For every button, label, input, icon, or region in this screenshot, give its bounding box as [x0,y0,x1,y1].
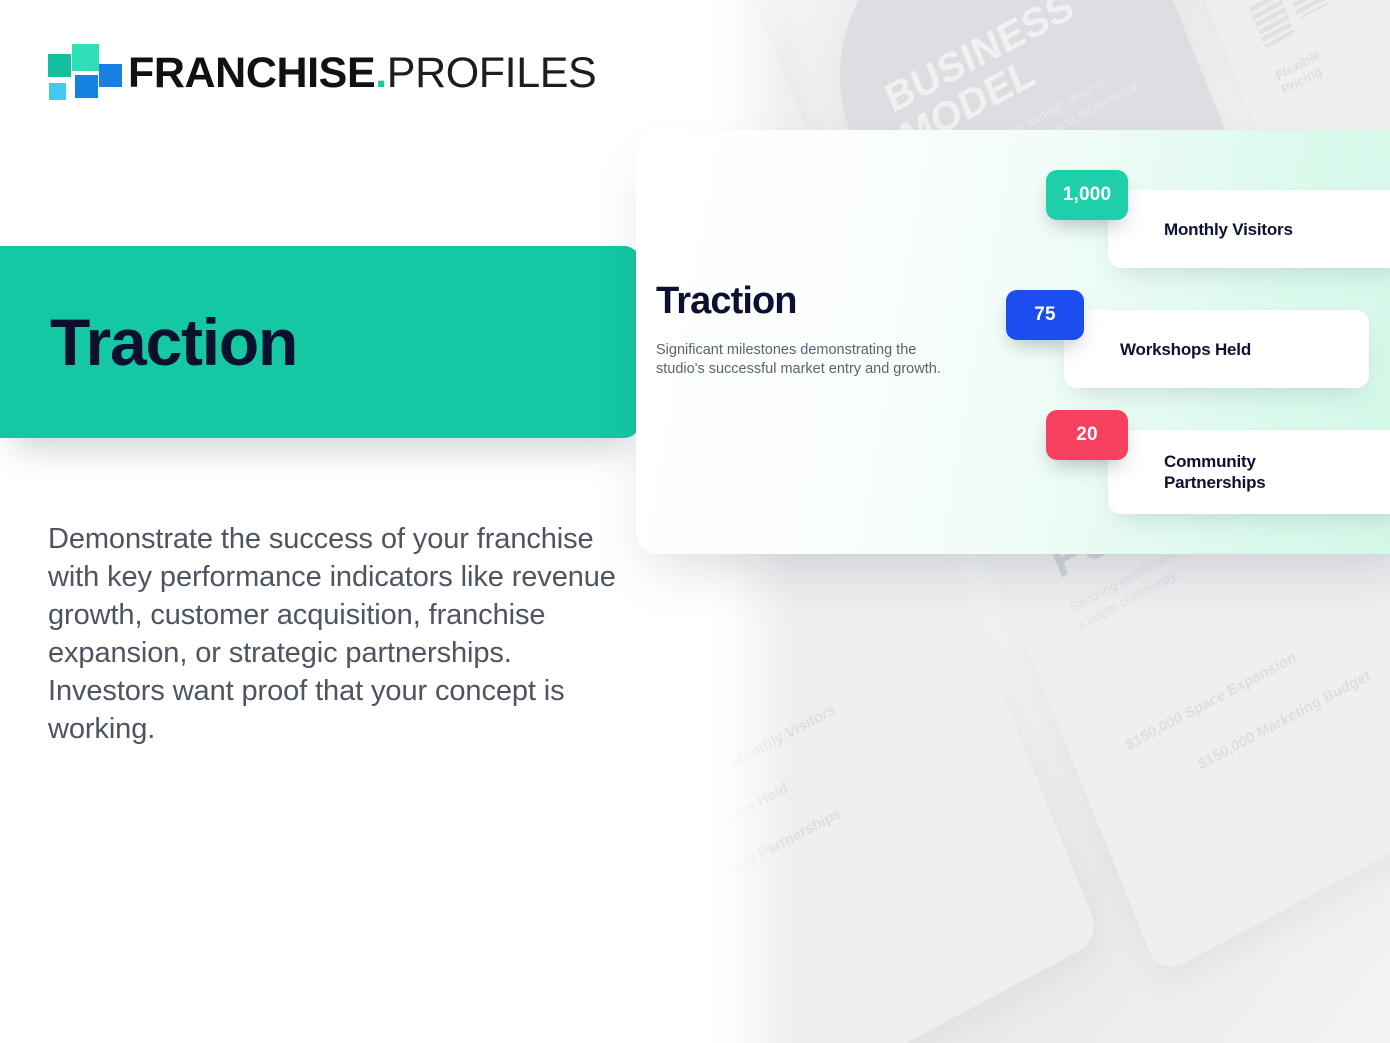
metric-row[interactable]: 1,000 Monthly Visitors [1046,170,1390,268]
logo-word-dot: . [375,49,387,98]
logo-wordmark: FRANCHISE . PROFILES [128,49,596,98]
coins-icon [1249,0,1296,49]
logo-square-sky [49,83,66,100]
logo-square-blue-2 [99,64,122,87]
metric-label: Workshops Held [1120,339,1251,360]
metric-row[interactable]: 20 Community Partnerships [1046,410,1390,514]
metric-card[interactable]: Community Partnerships [1108,430,1390,514]
logo-square-mint [72,44,99,71]
preview-description: Significant milestones demonstrating the… [656,341,956,379]
page-title: Traction [50,304,297,380]
brand-logo[interactable]: FRANCHISE . PROFILES [46,40,596,106]
logo-word-franchise: FRANCHISE [128,49,375,98]
metric-row[interactable]: 75 Workshops Held [1006,290,1369,388]
preview-title: Traction [656,280,986,323]
metric-card[interactable]: Monthly Visitors [1108,190,1390,268]
watermark-icon-group-pricing [1249,0,1333,49]
metric-label: Community Partnerships [1164,451,1344,493]
metric-card[interactable]: Workshops Held [1064,310,1369,388]
preview-heading-block: Traction Significant milestones demonstr… [656,280,986,379]
section-description: Demonstrate the success of your franchis… [48,520,626,748]
watermark-line [715,0,736,67]
metric-value-badge: 20 [1046,410,1128,460]
coins-icon [1286,0,1329,20]
logo-square-blue [75,75,98,98]
logo-word-profiles: PROFILES [387,49,596,98]
slide-canvas: S Drop-In Fees Session Workshops Commiss… [0,0,1390,1043]
metric-value-badge: 75 [1006,290,1084,340]
metric-value-badge: 1,000 [1046,170,1128,220]
metric-label: Monthly Visitors [1164,219,1293,240]
logo-square-teal [48,54,71,77]
logo-squares-icon [46,42,106,104]
section-banner: Traction [0,246,640,438]
slide-preview-panel: Traction Significant milestones demonstr… [636,130,1390,554]
